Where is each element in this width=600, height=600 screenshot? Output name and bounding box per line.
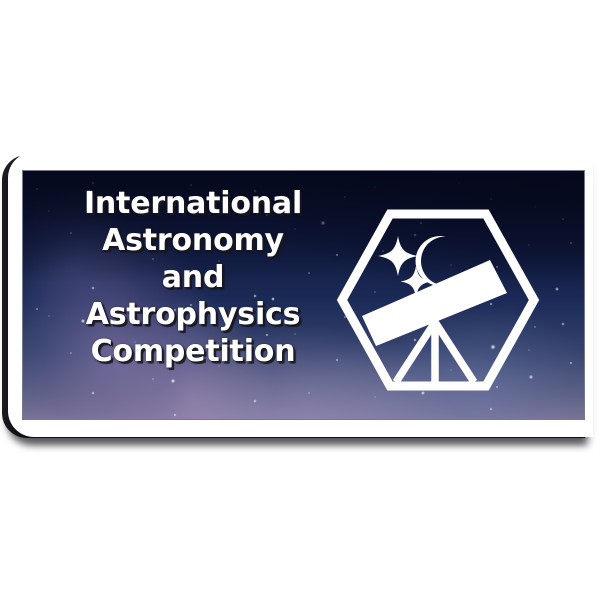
title-line-2: Astronomy	[48, 223, 338, 260]
title-line-5: Competition	[48, 334, 338, 371]
title-line-1: International	[48, 186, 338, 223]
screenshot-stage: International Astronomy and Astrophysics…	[0, 0, 600, 600]
title-line-4: Astrophysics	[48, 297, 338, 334]
sparkle-star-large-icon	[378, 236, 418, 276]
title-line-3: and	[48, 260, 338, 297]
page-title: International Astronomy and Astrophysics…	[48, 186, 338, 370]
telescope-hexagon-emblem	[334, 196, 542, 404]
